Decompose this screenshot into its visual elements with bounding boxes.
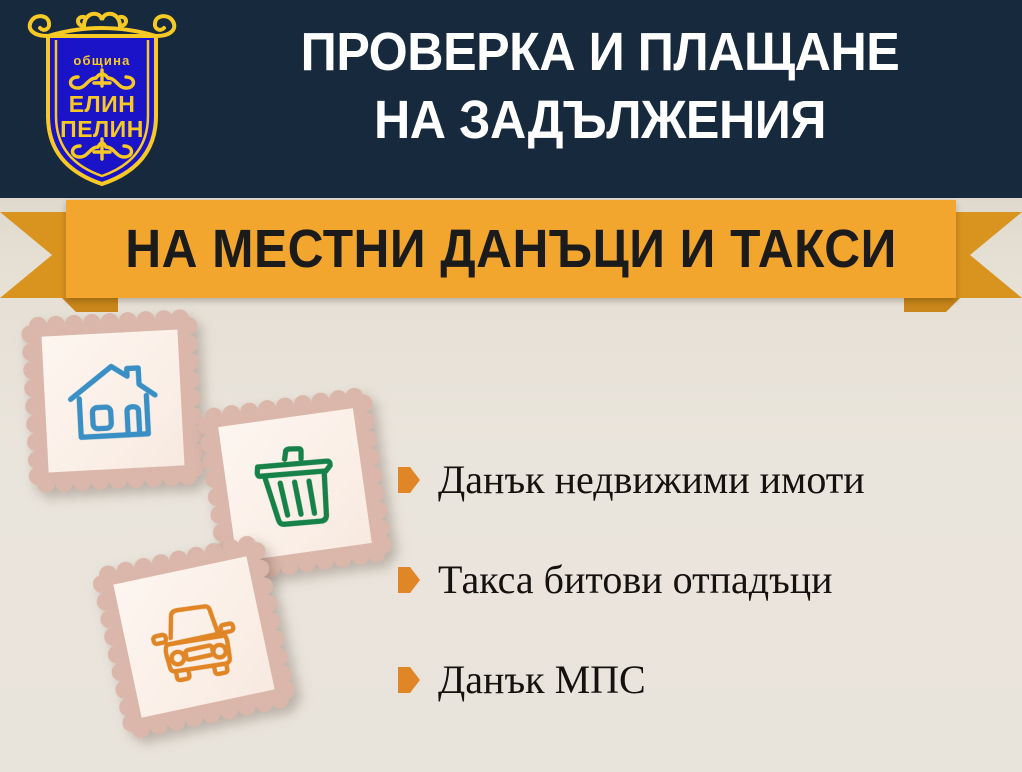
list-item[interactable]: Данък недвижими имоти [398, 430, 1008, 530]
list-item-label: Такса битови отпадъци [438, 558, 833, 602]
services-list: Данък недвижими имоти Такса битови отпад… [398, 430, 1008, 730]
list-item[interactable]: Данък МПС [398, 630, 1008, 730]
arrow-bullet-icon [398, 567, 420, 593]
list-item[interactable]: Такса битови отпадъци [398, 530, 1008, 630]
page-title: ПРОВЕРКА И ПЛАЩАНЕ НА ЗАДЪЛЖЕНИЯ [219, 18, 982, 154]
car-front-icon [113, 556, 274, 717]
stamp-house [19, 307, 206, 494]
ribbon-label: НА МЕСТНИ ДАНЪЦИ И ТАКСИ [102, 200, 921, 298]
ribbon-banner: НА МЕСТНИ ДАНЪЦИ И ТАКСИ [66, 200, 956, 298]
header-bar: община ЕЛИН ПЕЛИН ПРОВЕРКА И ПЛАЩАНЕ НА … [0, 0, 1022, 198]
stamp-car [88, 531, 299, 742]
municipality-logo: община ЕЛИН ПЕЛИН [22, 6, 182, 192]
arrow-bullet-icon [398, 467, 420, 493]
list-item-label: Данък недвижими имоти [438, 458, 865, 502]
subtitle-ribbon: НА МЕСТНИ ДАНЪЦИ И ТАКСИ [0, 200, 1022, 310]
ribbon-fold-left [62, 298, 118, 312]
arrow-bullet-icon [398, 667, 420, 693]
house-icon [42, 330, 185, 473]
ribbon-fold-right [904, 298, 960, 312]
poster-canvas: община ЕЛИН ПЕЛИН ПРОВЕРКА И ПЛАЩАНЕ НА … [0, 0, 1022, 772]
list-item-label: Данък МПС [438, 658, 646, 702]
